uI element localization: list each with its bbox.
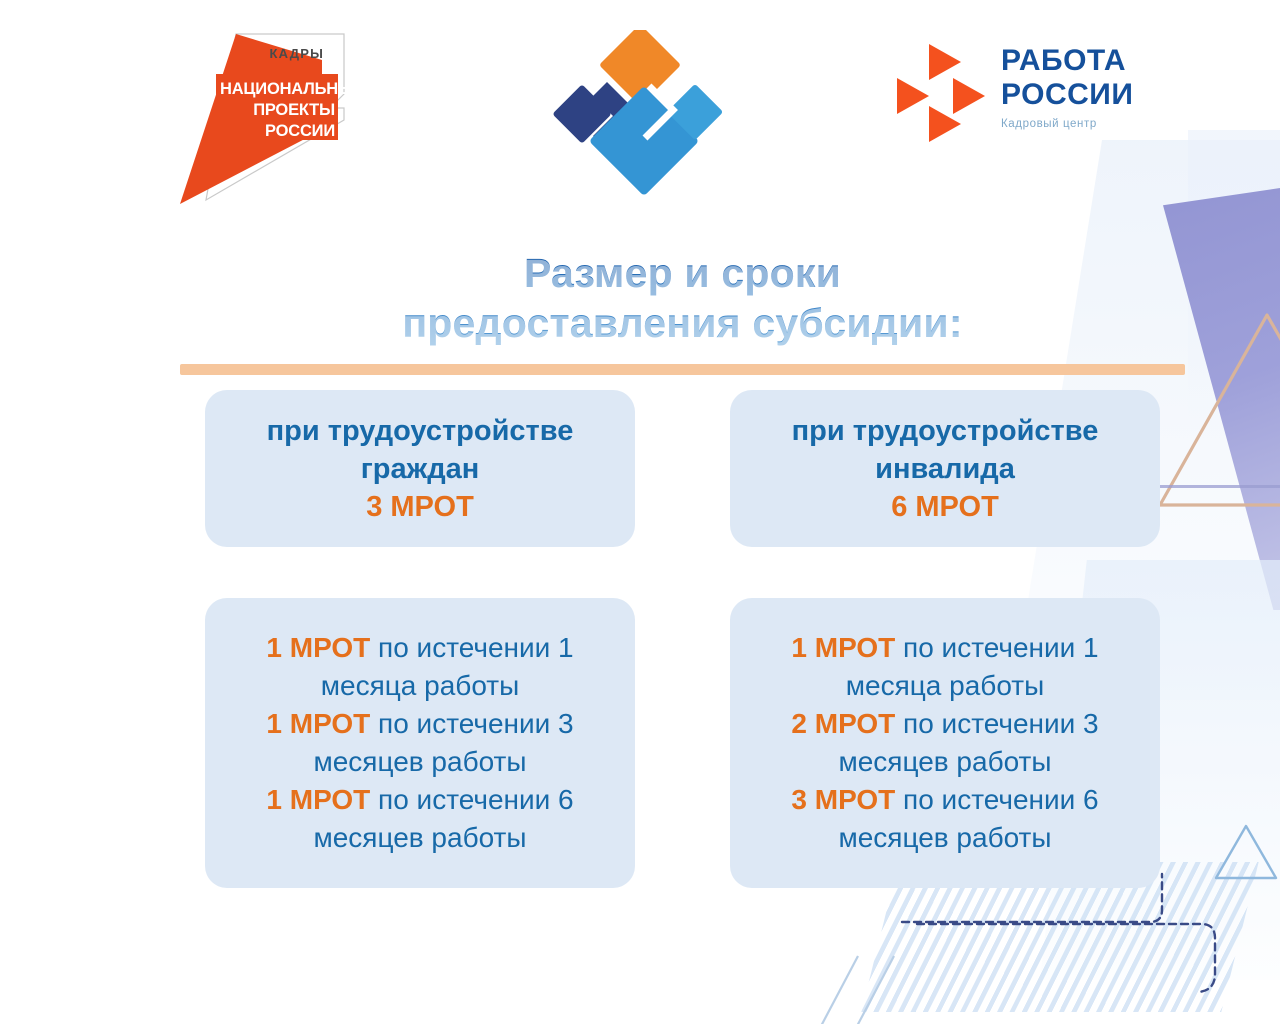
schedule-amount: 1 МРОТ bbox=[266, 708, 370, 739]
schedule-amount: 2 МРОТ bbox=[791, 708, 895, 739]
schedule-disabled-item-2: 2 МРОТ по истечении 3 месяцев работы bbox=[744, 705, 1146, 781]
card-disabled-line-1: при трудоустройстве bbox=[744, 412, 1146, 450]
schedule-amount: 1 МРОТ bbox=[266, 632, 370, 663]
card-disabled-line-2: инвалида bbox=[744, 450, 1146, 488]
card-disabled-amount: 6 МРОТ bbox=[744, 488, 1146, 526]
card-employment-citizens: при трудоустройстве граждан 3 МРОТ bbox=[205, 390, 635, 547]
schedule-citizens-item-2: 1 МРОТ по истечении 3 месяцев работы bbox=[219, 705, 621, 781]
card-schedule-citizens: 1 МРОТ по истечении 1 месяца работы 1 МР… bbox=[205, 598, 635, 888]
slide-root: КАДРЫ НАЦИОНАЛЬНЫЕ ПРОЕКТЫ РОССИИ bbox=[0, 0, 1280, 1024]
schedule-citizens-item-3: 1 МРОТ по истечении 6 месяцев работы bbox=[219, 781, 621, 857]
schedule-disabled-item-1: 1 МРОТ по истечении 1 месяца работы bbox=[744, 629, 1146, 705]
card-citizens-amount: 3 МРОТ bbox=[219, 488, 621, 526]
schedule-amount: 3 МРОТ bbox=[791, 784, 895, 815]
card-citizens-line-2: граждан bbox=[219, 450, 621, 488]
schedule-citizens-item-1: 1 МРОТ по истечении 1 месяца работы bbox=[219, 629, 621, 705]
schedule-amount: 1 МРОТ bbox=[266, 784, 370, 815]
card-employment-disabled: при трудоустройстве инвалида 6 МРОТ bbox=[730, 390, 1160, 547]
schedule-amount: 1 МРОТ bbox=[791, 632, 895, 663]
card-citizens-line-1: при трудоустройстве bbox=[219, 412, 621, 450]
schedule-disabled-item-3: 3 МРОТ по истечении 6 месяцев работы bbox=[744, 781, 1146, 857]
card-schedule-disabled: 1 МРОТ по истечении 1 месяца работы 2 МР… bbox=[730, 598, 1160, 888]
content-cards: при трудоустройстве граждан 3 МРОТ при т… bbox=[0, 0, 1280, 1024]
